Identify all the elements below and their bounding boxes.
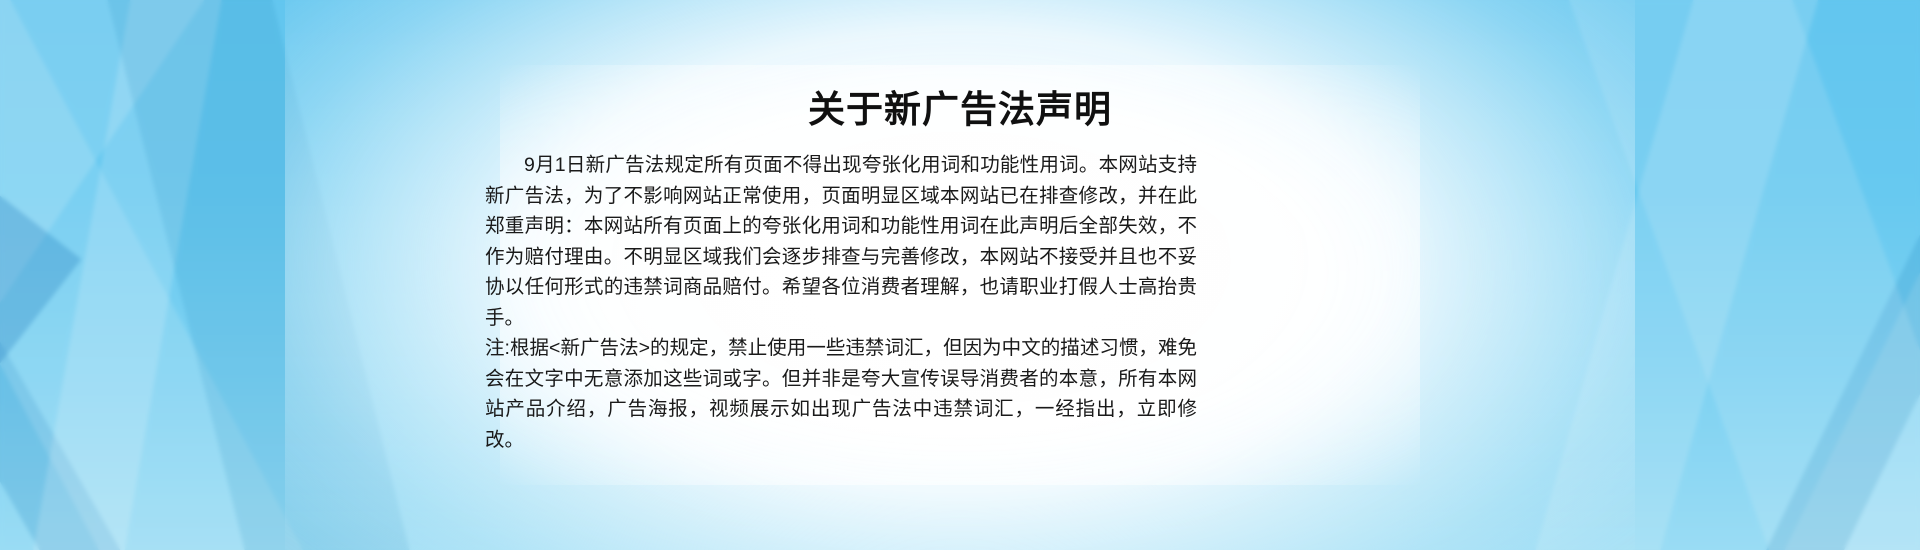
notice-paragraph-1: 9月1日新广告法规定所有页面不得出现夸张化用词和功能性用词。本网站支持新广告法，…	[485, 150, 1197, 333]
notice-content: 关于新广告法声明 9月1日新广告法规定所有页面不得出现夸张化用词和功能性用词。本…	[0, 0, 1920, 550]
page-title: 关于新广告法声明	[0, 88, 1920, 132]
legal-notice-banner: 关于新广告法声明 9月1日新广告法规定所有页面不得出现夸张化用词和功能性用词。本…	[0, 0, 1920, 550]
notice-body: 9月1日新广告法规定所有页面不得出现夸张化用词和功能性用词。本网站支持新广告法，…	[485, 150, 1197, 455]
notice-paragraph-2: 注:根据<新广告法>的规定，禁止使用一些违禁词汇，但因为中文的描述习惯，难免会在…	[485, 333, 1197, 455]
